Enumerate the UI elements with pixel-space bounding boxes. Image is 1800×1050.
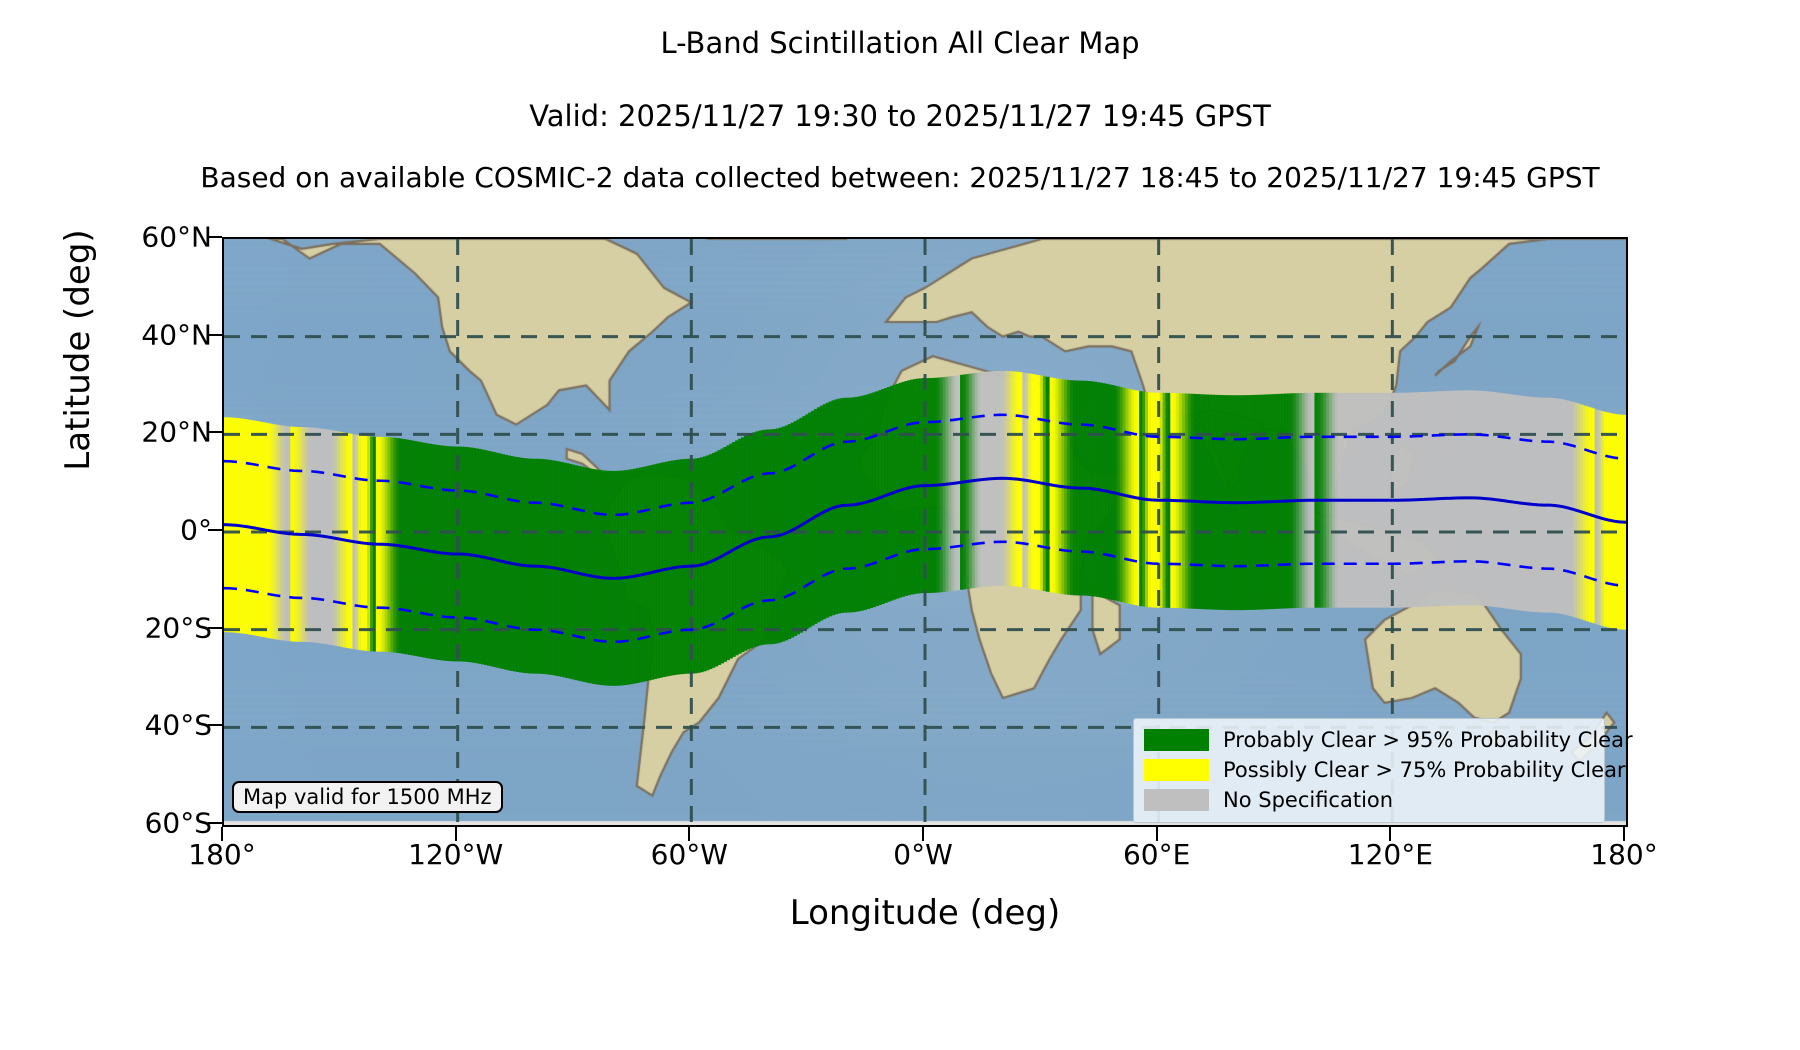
x-tick-label: 120°W [356, 838, 556, 871]
map-legend: Probably Clear > 95% Probability ClearPo… [1133, 718, 1605, 823]
legend-swatch [1144, 789, 1209, 811]
frequency-annotation: Map valid for 1500 MHz [232, 781, 503, 813]
valid-time-text: Valid: 2025/11/27 19:30 to 2025/11/27 19… [0, 99, 1800, 133]
x-tick-label: 120°E [1290, 838, 1490, 871]
y-tick-mark [208, 724, 222, 726]
legend-row: No Specification [1144, 785, 1594, 815]
legend-label: Probably Clear > 95% Probability Clear [1223, 728, 1633, 752]
legend-label: No Specification [1223, 788, 1393, 812]
x-tick-label: 60°E [1057, 838, 1257, 871]
y-tick-mark [208, 627, 222, 629]
x-tick-label: 180° [122, 838, 322, 871]
y-tick-label: 60°N [32, 221, 212, 254]
y-tick-mark [208, 529, 222, 531]
y-tick-label: 20°N [32, 416, 212, 449]
y-tick-mark [208, 822, 222, 824]
x-tick-mark [688, 827, 690, 841]
x-tick-mark [221, 827, 223, 841]
x-tick-mark [922, 827, 924, 841]
legend-row: Possibly Clear > 75% Probability Clear [1144, 755, 1594, 785]
y-tick-label: 20°S [32, 611, 212, 644]
y-tick-mark [208, 236, 222, 238]
x-tick-label: 60°W [589, 838, 789, 871]
x-tick-label: 180° [1524, 838, 1724, 871]
data-source-text: Based on available COSMIC-2 data collect… [0, 161, 1800, 194]
page-title: L-Band Scintillation All Clear Map [0, 26, 1800, 60]
x-axis-label: Longitude (deg) [222, 893, 1628, 933]
y-tick-mark [208, 334, 222, 336]
y-tick-label: 40°S [32, 709, 212, 742]
scintillation-map-page: L-Band Scintillation All Clear Map Valid… [0, 0, 1800, 1050]
y-tick-mark [208, 431, 222, 433]
x-tick-mark [1623, 827, 1625, 841]
x-tick-mark [1389, 827, 1391, 841]
legend-row: Probably Clear > 95% Probability Clear [1144, 725, 1594, 755]
legend-label: Possibly Clear > 75% Probability Clear [1223, 758, 1626, 782]
y-tick-label: 0° [32, 514, 212, 547]
x-tick-label: 0°W [823, 838, 1023, 871]
legend-swatch [1144, 729, 1209, 751]
x-tick-mark [455, 827, 457, 841]
x-tick-mark [1156, 827, 1158, 841]
y-tick-label: 60°S [32, 807, 212, 840]
legend-swatch [1144, 759, 1209, 781]
y-tick-label: 40°N [32, 318, 212, 351]
